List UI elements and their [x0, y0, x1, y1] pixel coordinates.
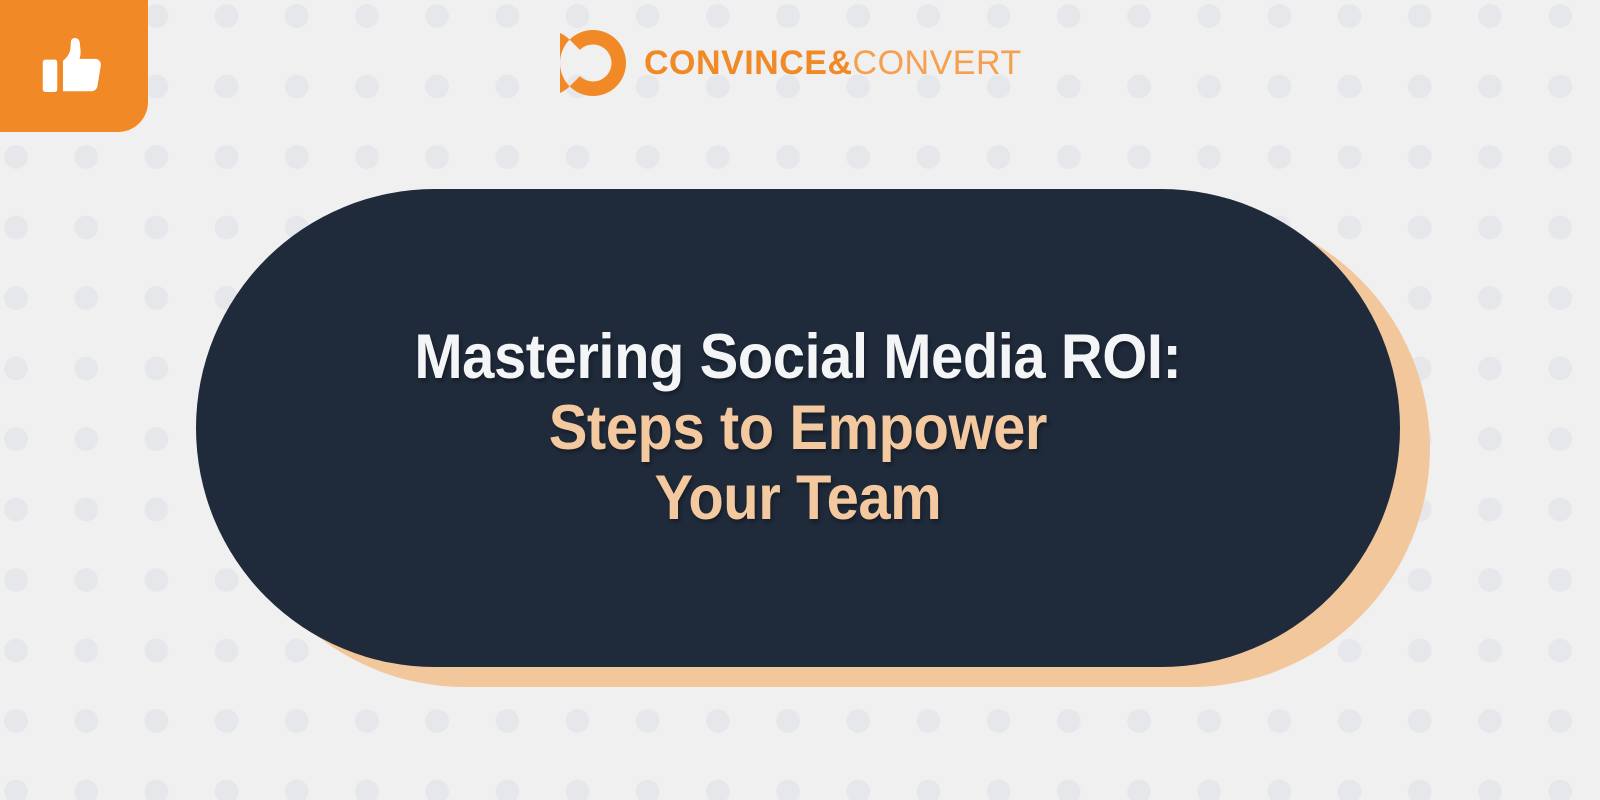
convince-convert-c-mark-icon: [560, 30, 626, 96]
thumbs-up-icon: [37, 29, 111, 103]
headline-line-2: Steps to Empower: [415, 393, 1182, 464]
headline-card: Mastering Social Media ROI: Steps to Emp…: [196, 189, 1400, 667]
brand-wordmark: CONVINCE&CONVERT: [644, 46, 1022, 80]
headline-line-1: Mastering Social Media ROI:: [415, 322, 1182, 393]
headline: Mastering Social Media ROI: Steps to Emp…: [415, 322, 1182, 534]
brand-wordmark-bold: CONVINCE&: [644, 46, 853, 80]
headline-line-3: Your Team: [415, 463, 1182, 534]
brand-wordmark-thin: CONVERT: [853, 46, 1022, 80]
brand-logo: CONVINCE&CONVERT: [560, 28, 1022, 98]
thumbs-up-badge: [0, 0, 148, 132]
social-share-card-canvas: CONVINCE&CONVERT Mastering Social Media …: [0, 0, 1600, 800]
